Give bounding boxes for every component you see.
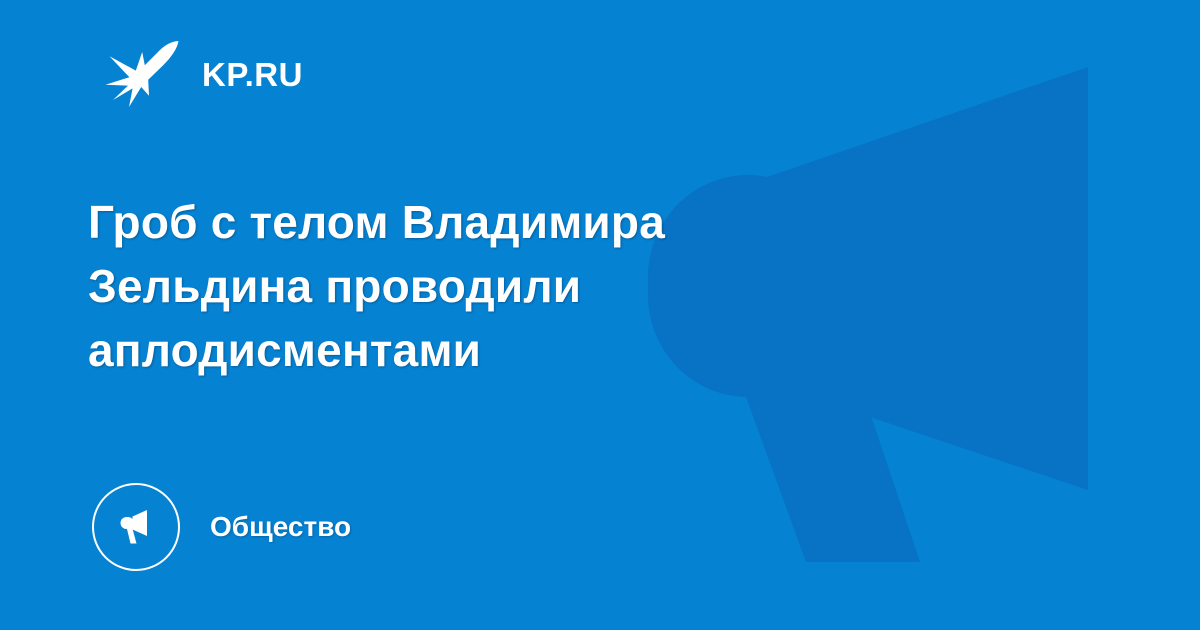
category-chip[interactable]: Общество	[92, 483, 351, 571]
category-label: Общество	[210, 513, 351, 541]
page-title: Гроб с телом Владимира Зельдина проводил…	[88, 190, 848, 382]
brand-name: KP.RU	[202, 58, 303, 91]
megaphone-icon	[113, 504, 159, 550]
category-badge[interactable]	[92, 483, 180, 571]
share-card: KP.RU Гроб с телом Владимира Зельдина пр…	[0, 0, 1200, 630]
brand-lockup[interactable]: KP.RU	[104, 38, 303, 110]
swallow-bird-icon	[104, 39, 180, 109]
